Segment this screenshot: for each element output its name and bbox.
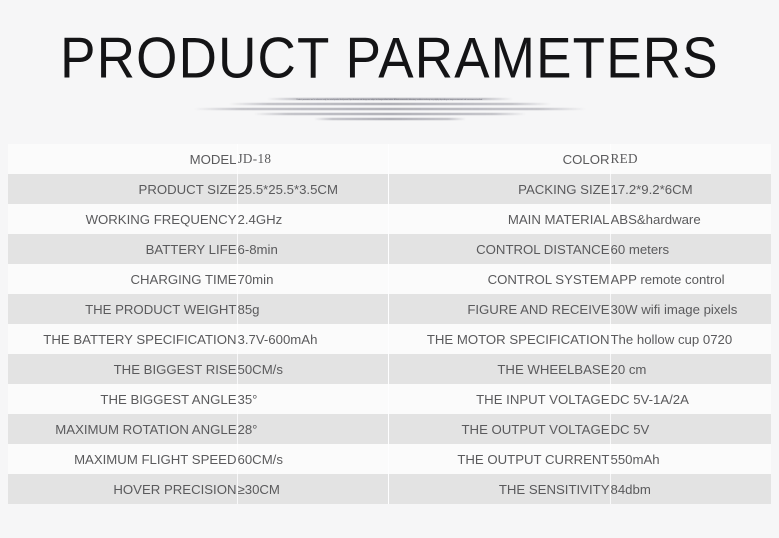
parameter-label-left: PRODUCT SIZE	[8, 174, 237, 204]
parameter-value-left: 25.5*25.5*3.5CM	[237, 174, 388, 204]
parameter-value-right: The hollow cup 0720	[610, 324, 771, 354]
parameter-value-left: JD-18	[237, 144, 388, 174]
parameter-value-right: RED	[610, 144, 771, 174]
parameter-label-left: WORKING FREQUENCY	[8, 204, 237, 234]
parameter-value-right: 17.2*9.2*6CM	[610, 174, 771, 204]
product-parameters-table: MODELJD-18COLORREDPRODUCT SIZE25.5*25.5*…	[8, 144, 771, 504]
table-row: MODELJD-18COLORRED	[8, 144, 771, 174]
parameter-label-left: MAXIMUM ROTATION ANGLE	[8, 414, 237, 444]
table-row: THE BATTERY SPECIFICATION3.7V-600mAhTHE …	[8, 324, 771, 354]
parameter-value-right: APP remote control	[610, 264, 771, 294]
parameter-label-left: MAXIMUM FLIGHT SPEED	[8, 444, 237, 474]
table-row: CHARGING TIME70minCONTROL SYSTEMAPP remo…	[8, 264, 771, 294]
parameter-value-left: 6-8min	[237, 234, 388, 264]
table-row: BATTERY LIFE6-8minCONTROL DISTANCE60 met…	[8, 234, 771, 264]
parameter-label-right: FIGURE AND RECEIVE	[388, 294, 610, 324]
page-title: PRODUCT PARAMETERS	[0, 30, 779, 88]
parameter-value-right: 20 cm	[610, 354, 771, 384]
parameter-label-right: MAIN MATERIAL	[388, 204, 610, 234]
parameter-value-left: 2.4GHz	[237, 204, 388, 234]
microtext-line	[314, 118, 466, 120]
table-row: WORKING FREQUENCY2.4GHzMAIN MATERIALABS&…	[8, 204, 771, 234]
parameter-value-right: DC 5V	[610, 414, 771, 444]
parameter-value-right: ABS&hardware	[610, 204, 771, 234]
parameter-label-left: BATTERY LIFE	[8, 234, 237, 264]
parameter-value-right: 30W wifi image pixels	[610, 294, 771, 324]
microtext-line	[194, 108, 586, 110]
microtext-line	[254, 113, 526, 115]
parameter-value-right: 550mAh	[610, 444, 771, 474]
parameter-value-left: 70min	[237, 264, 388, 294]
table-row: THE BIGGEST RISE50CM/sTHE WHEELBASE20 cm	[8, 354, 771, 384]
parameter-label-right: CONTROL DISTANCE	[388, 234, 610, 264]
parameter-label-left: CHARGING TIME	[8, 264, 237, 294]
parameter-value-left: 28°	[237, 414, 388, 444]
parameter-label-left: THE BIGGEST ANGLE	[8, 384, 237, 414]
parameter-value-right: DC 5V-1A/2A	[610, 384, 771, 414]
parameter-label-right: THE OUTPUT CURRENT	[388, 444, 610, 474]
parameter-label-left: HOVER PRECISION	[8, 474, 237, 504]
parameter-label-right: COLOR	[388, 144, 610, 174]
parameter-value-left: 35°	[237, 384, 388, 414]
parameter-value-left: ≥30CM	[237, 474, 388, 504]
table-row: HOVER PRECISION≥30CMTHE SENSITIVITY84dbm	[8, 474, 771, 504]
microtext-line	[229, 103, 551, 105]
parameter-value-left: 60CM/s	[237, 444, 388, 474]
subtitle-text: Product parameters are for reference onl…	[190, 98, 590, 103]
parameter-label-right: THE OUTPUT VOLTAGE	[388, 414, 610, 444]
subtitle-microtext: Product parameters are for reference onl…	[0, 98, 779, 122]
table-row: MAXIMUM ROTATION ANGLE28°THE OUTPUT VOLT…	[8, 414, 771, 444]
title-block: PRODUCT PARAMETERS Product parameters ar…	[0, 0, 779, 122]
parameter-label-left: THE PRODUCT WEIGHT	[8, 294, 237, 324]
parameter-label-right: PACKING SIZE	[388, 174, 610, 204]
parameter-label-left: THE BATTERY SPECIFICATION	[8, 324, 237, 354]
table-row: MAXIMUM FLIGHT SPEED60CM/sTHE OUTPUT CUR…	[8, 444, 771, 474]
parameter-value-left: 85g	[237, 294, 388, 324]
parameter-value-right: 84dbm	[610, 474, 771, 504]
table-row: THE BIGGEST ANGLE35°THE INPUT VOLTAGEDC …	[8, 384, 771, 414]
table-row: PRODUCT SIZE25.5*25.5*3.5CMPACKING SIZE1…	[8, 174, 771, 204]
parameter-label-right: THE WHEELBASE	[388, 354, 610, 384]
table-row: THE PRODUCT WEIGHT85gFIGURE AND RECEIVE3…	[8, 294, 771, 324]
parameter-label-right: CONTROL SYSTEM	[388, 264, 610, 294]
parameter-value-left: 3.7V-600mAh	[237, 324, 388, 354]
parameter-label-left: THE BIGGEST RISE	[8, 354, 237, 384]
parameter-label-right: THE SENSITIVITY	[388, 474, 610, 504]
parameter-label-right: THE MOTOR SPECIFICATION	[388, 324, 610, 354]
parameter-label-left: MODEL	[8, 144, 237, 174]
parameter-label-right: THE INPUT VOLTAGE	[388, 384, 610, 414]
parameter-value-right: 60 meters	[610, 234, 771, 264]
parameter-value-left: 50CM/s	[237, 354, 388, 384]
product-parameters-body: MODELJD-18COLORREDPRODUCT SIZE25.5*25.5*…	[8, 144, 771, 504]
